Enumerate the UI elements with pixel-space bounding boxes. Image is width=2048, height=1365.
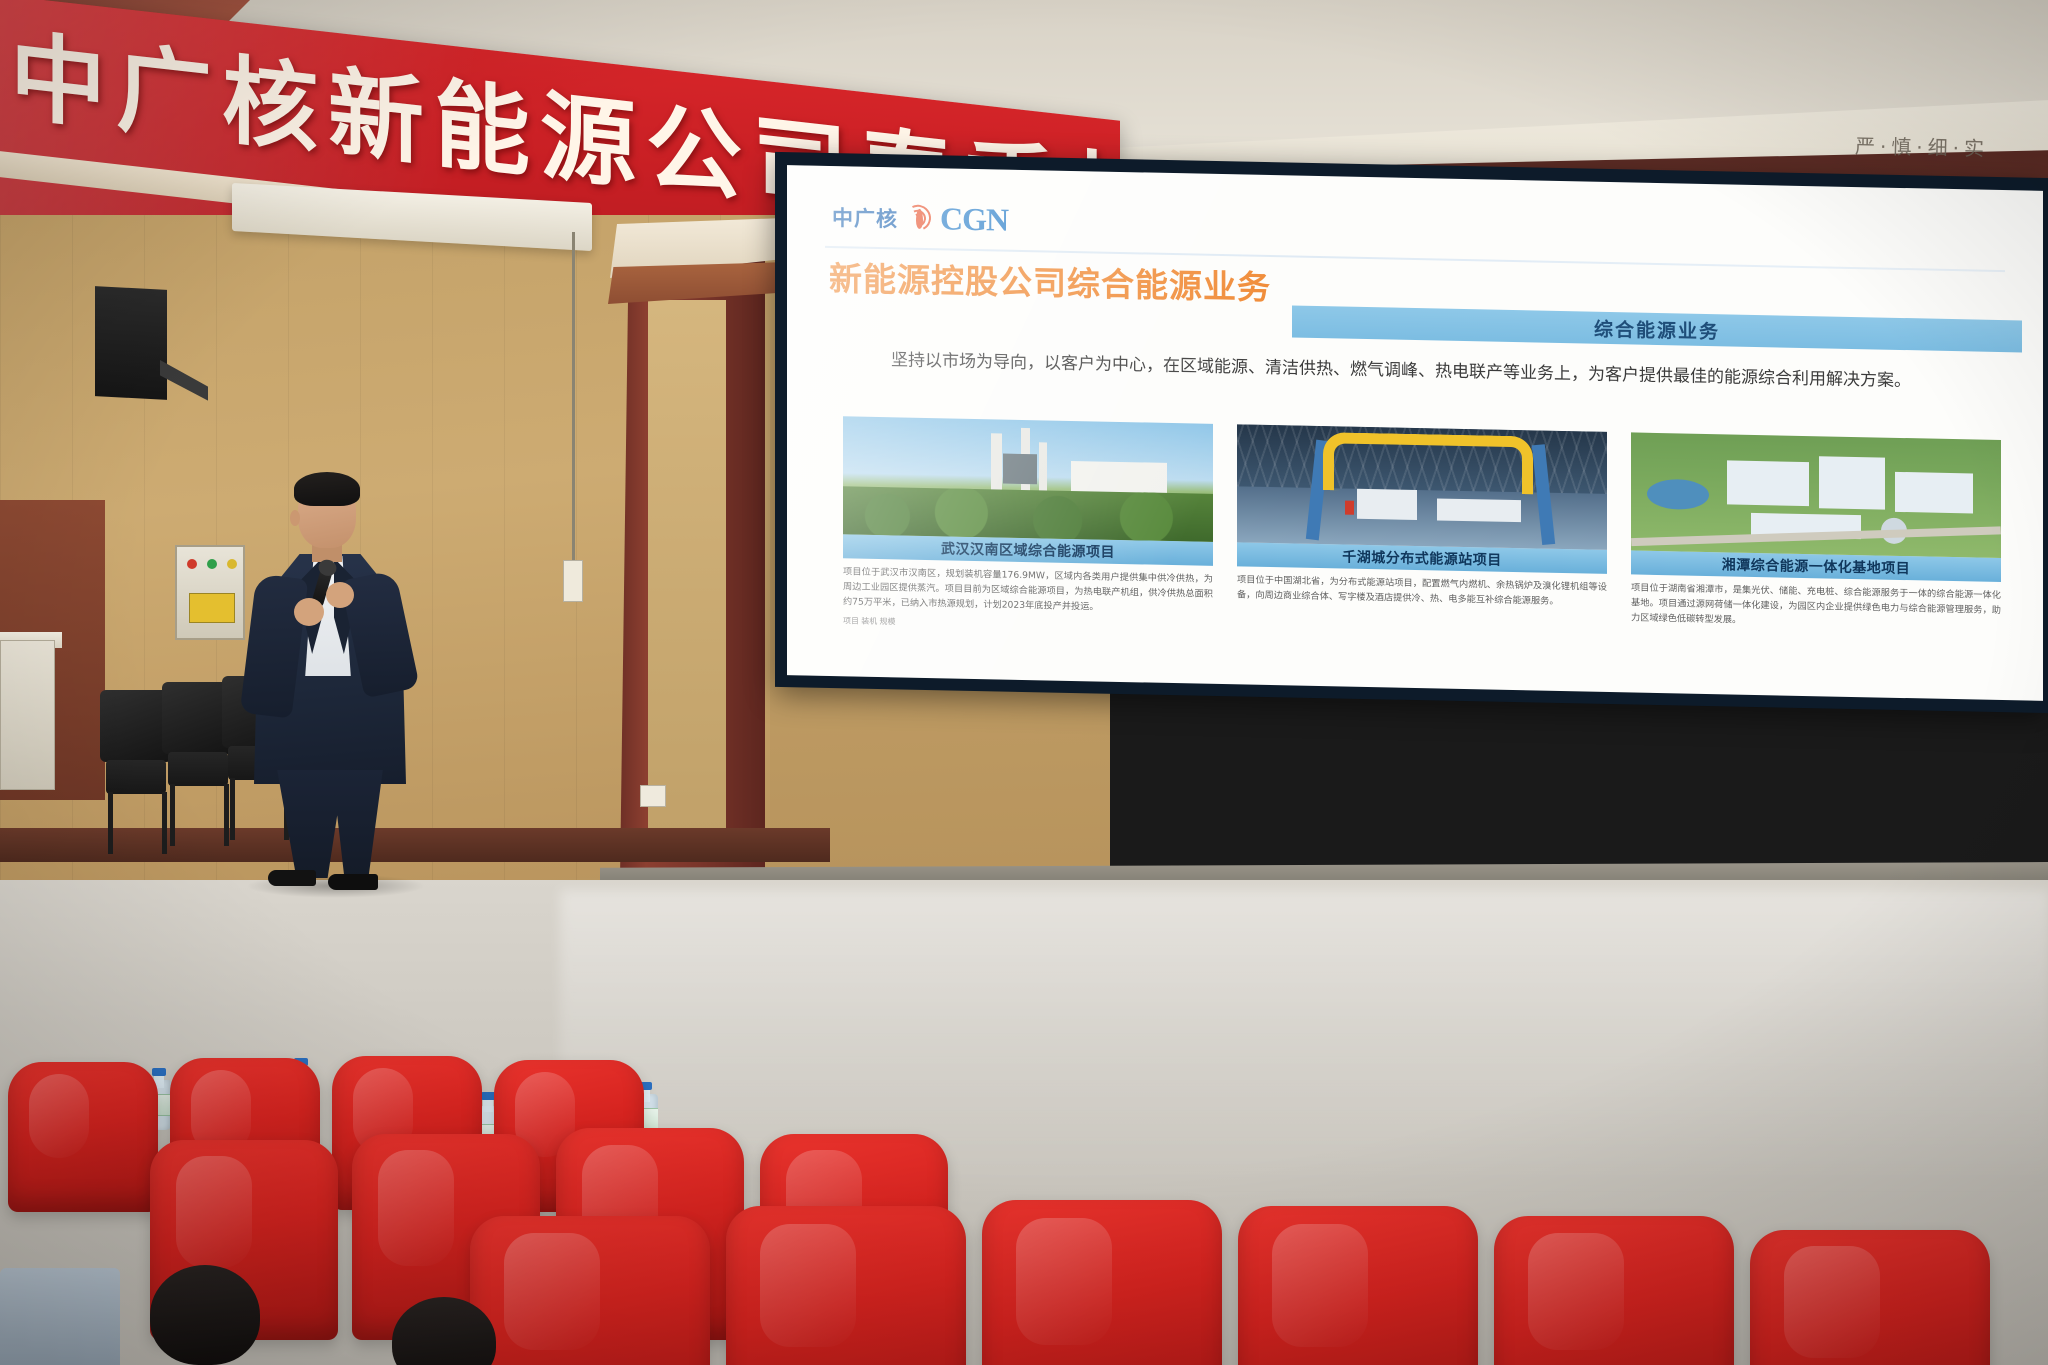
control-panel-box[interactable] xyxy=(175,545,245,640)
presenter-trousers xyxy=(270,770,390,878)
audience-head xyxy=(392,1297,496,1365)
led-screen[interactable]: 中广核 CGN 新能源控股公司综合能源业务 综合能源业务 坚持以市场为导向，以客… xyxy=(787,165,2043,701)
auditorium-seat[interactable] xyxy=(1238,1206,1478,1365)
project-caption: 武汉汉南区域综合能源项目 xyxy=(941,538,1115,562)
presentation-slide: 中广核 CGN 新能源控股公司综合能源业务 综合能源业务 坚持以市场为导向，以客… xyxy=(787,165,2043,701)
project-caption: 千湖城分布式能源站项目 xyxy=(1342,547,1502,570)
indicator-lamp-red xyxy=(187,559,197,569)
section-header-bar: 综合能源业务 xyxy=(1292,305,2022,352)
pillar-inner-panel xyxy=(648,300,726,860)
wall-speaker xyxy=(95,286,167,400)
slide-body-text: 坚持以市场为导向，以客户为中心，在区域能源、清洁供热、燃气调峰、热电联产等业务上… xyxy=(857,343,2012,401)
indicator-lamp-green xyxy=(207,559,217,569)
project-description: 项目位于中国湖北省，为分布式能源站项目，配置燃气内燃机、余热锅炉及溴化锂机组等设… xyxy=(1237,573,1607,610)
hanging-cable xyxy=(572,232,575,562)
presenter-hand-right xyxy=(326,582,354,608)
audience-head xyxy=(150,1265,260,1365)
podium xyxy=(0,640,55,790)
cgn-swirl-icon xyxy=(902,202,936,235)
wall-switch[interactable] xyxy=(563,560,583,602)
project-card: 千湖城分布式能源站项目 项目位于中国湖北省，为分布式能源站项目，配置燃气内燃机、… xyxy=(1237,424,1607,610)
project-note: 项目 装机 规模 xyxy=(843,615,1213,634)
energy-station-interior-photo xyxy=(1237,424,1607,550)
auditorium-seat[interactable] xyxy=(8,1062,158,1212)
cgn-logo-english: CGN xyxy=(940,200,1008,238)
presenter-hair xyxy=(294,472,360,506)
cgn-logo-chinese: 中广核 xyxy=(832,202,898,233)
presenter xyxy=(240,470,420,890)
project-description: 项目位于武汉市汉南区，规划装机容量176.9MW，区域内各类用户提供集中供冷供热… xyxy=(843,565,1213,617)
auditorium-seat[interactable] xyxy=(1494,1216,1734,1365)
cgn-logo: 中广核 CGN xyxy=(832,198,1008,239)
presenter-hand-left xyxy=(294,598,324,626)
indicator-lamp-yellow xyxy=(227,559,237,569)
project-description: 项目位于湖南省湘潭市，是集光伏、储能、充电桩、综合能源服务于一体的综合能源一体化… xyxy=(1631,581,2001,633)
wall-socket xyxy=(640,785,666,807)
auditorium-seat[interactable] xyxy=(982,1200,1222,1365)
section-header-label: 综合能源业务 xyxy=(1594,314,1720,344)
industrial-plant-photo xyxy=(843,416,1213,542)
aerial-energy-base-photo xyxy=(1631,432,2001,558)
presenter-ear xyxy=(290,510,300,526)
conference-hall-scene: 中广核新能源公司春季校园招 严·慎·细·实 中广核 CG xyxy=(0,0,2048,1365)
presenter-shoe-right xyxy=(328,874,378,890)
auditorium-seat[interactable] xyxy=(726,1206,966,1365)
panel-switch[interactable] xyxy=(189,593,235,623)
foreground-laptop-screen xyxy=(0,1268,120,1365)
project-card: 湘潭综合能源一体化基地项目 项目位于湖南省湘潭市，是集光伏、储能、充电桩、综合能… xyxy=(1631,432,2001,633)
project-card: 武汉汉南区域综合能源项目 项目位于武汉市汉南区，规划装机容量176.9MW，区域… xyxy=(843,416,1213,633)
project-caption: 湘潭综合能源一体化基地项目 xyxy=(1722,554,1911,578)
project-cards: 武汉汉南区域综合能源项目 项目位于武汉市汉南区，规划装机容量176.9MW，区域… xyxy=(825,416,2015,690)
auditorium-seat[interactable] xyxy=(1750,1230,1990,1365)
slide-title: 新能源控股公司综合能源业务 xyxy=(829,252,1529,314)
venue-motto: 严·慎·细·实 xyxy=(1855,130,2046,163)
presenter-shoe-left xyxy=(268,870,316,886)
